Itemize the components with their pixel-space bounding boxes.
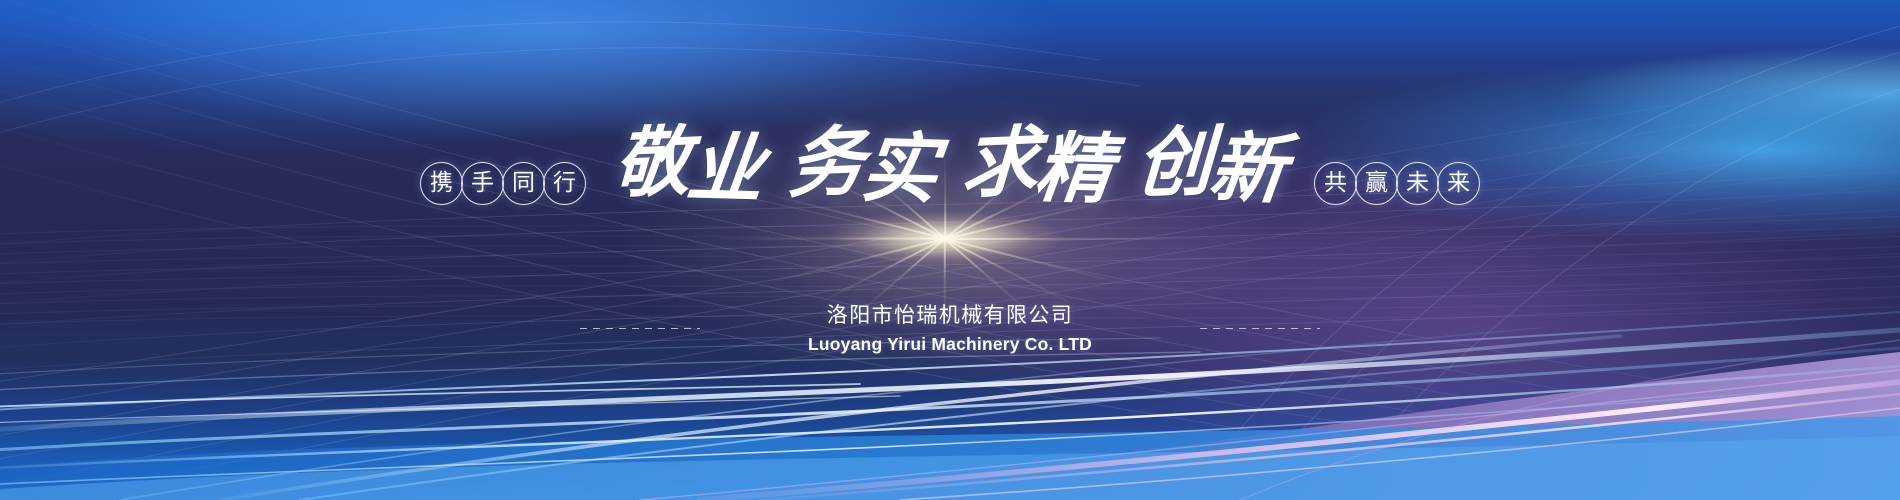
company-names: 洛阳市怡瑞机械有限公司 Luoyang Yirui Machinery Co. … (808, 300, 1092, 358)
circled-char-gong: 共 (1314, 162, 1357, 205)
circled-char-wei: 未 (1396, 162, 1439, 205)
circled-char-shou: 手 (461, 162, 504, 205)
company-name-english: Luoyang Yirui Machinery Co. LTD (808, 331, 1092, 357)
circled-char-xie: 携 (420, 162, 463, 205)
slogan-word-chuangxin: 创新 (1133, 130, 1287, 203)
circled-char-lai: 来 (1437, 162, 1480, 205)
slogan-calligraphy: 敬业 务实 求精 创新 (601, 130, 1297, 203)
circled-char-tong: 同 (502, 162, 545, 205)
company-name-chinese: 洛阳市怡瑞机械有限公司 (808, 300, 1092, 330)
headline-row: 携 手 同 行 敬业 务实 求精 创新 共 赢 未 来 (0, 128, 1900, 205)
left-circled-characters: 携 手 同 行 (421, 162, 585, 205)
company-culture-banner: 携 手 同 行 敬业 务实 求精 创新 共 赢 未 来 洛阳市怡瑞机械有限公司 (0, 0, 1900, 500)
slogan-word-qiujing: 求精 (959, 130, 1113, 203)
slogan-word-wushi: 务实 (785, 130, 939, 203)
circled-char-ying: 赢 (1355, 162, 1398, 205)
company-name-row: 洛阳市怡瑞机械有限公司 Luoyang Yirui Machinery Co. … (0, 300, 1900, 358)
dashed-rule-left (580, 328, 700, 329)
dashed-rule-right (1200, 328, 1320, 329)
right-circled-characters: 共 赢 未 来 (1315, 162, 1479, 205)
circled-char-xing: 行 (543, 162, 586, 205)
slogan-word-jingye: 敬业 (611, 130, 765, 203)
